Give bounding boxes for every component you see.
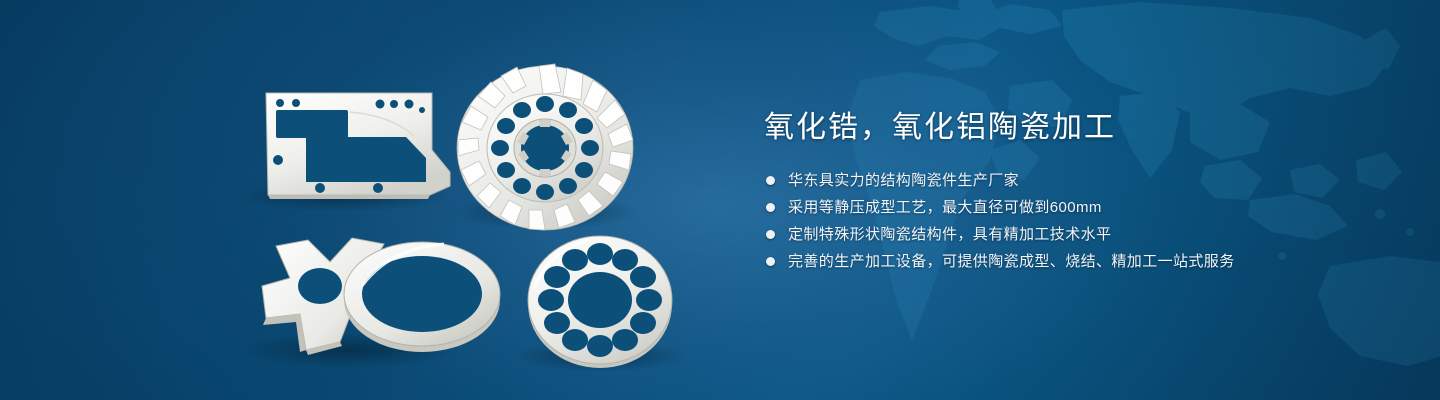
ceramic-perforated-disc-part (528, 236, 672, 368)
ceramic-impeller-part (457, 64, 633, 230)
list-item-label: 定制特殊形状陶瓷结构件，具有精加工技术水平 (788, 224, 1111, 245)
bullet-dot-icon (766, 230, 775, 239)
ceramic-plate-part (266, 93, 450, 199)
list-item: 华东具实力的结构陶瓷件生产厂家 (766, 170, 1384, 191)
bullet-dot-icon (766, 203, 775, 212)
ceramic-machining-banner: 氧化锆，氧化铝陶瓷加工 华东具实力的结构陶瓷件生产厂家 采用等静压成型工艺，最大… (0, 0, 1440, 400)
feature-list: 华东具实力的结构陶瓷件生产厂家 采用等静压成型工艺，最大直径可做到600mm 定… (766, 170, 1384, 272)
page-title: 氧化锆，氧化铝陶瓷加工 (764, 108, 1384, 148)
banner-copy: 氧化锆，氧化铝陶瓷加工 华东具实力的结构陶瓷件生产厂家 采用等静压成型工艺，最大… (764, 108, 1384, 278)
list-item: 定制特殊形状陶瓷结构件，具有精加工技术水平 (766, 224, 1384, 245)
list-item: 完善的生产加工设备，可提供陶瓷成型、烧结、精加工一站式服务 (766, 251, 1384, 272)
ceramic-ring-part (344, 242, 500, 352)
bullet-dot-icon (766, 176, 775, 185)
list-item-label: 华东具实力的结构陶瓷件生产厂家 (788, 170, 1019, 191)
ceramic-products-image (0, 0, 740, 400)
bullet-dot-icon (766, 257, 775, 266)
list-item: 采用等静压成型工艺，最大直径可做到600mm (766, 197, 1384, 218)
list-item-label: 完善的生产加工设备，可提供陶瓷成型、烧结、精加工一站式服务 (788, 251, 1235, 272)
list-item-label: 采用等静压成型工艺，最大直径可做到600mm (788, 197, 1102, 218)
